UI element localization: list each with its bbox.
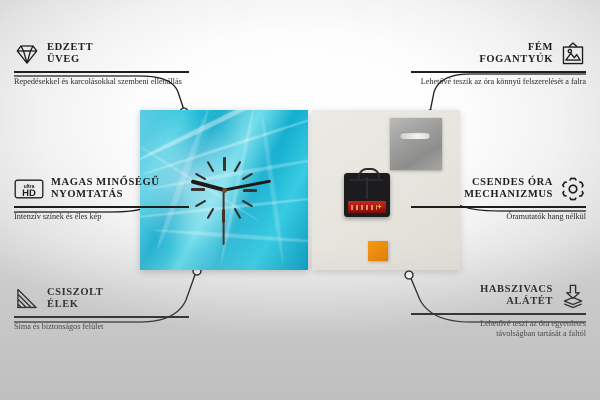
svg-text:HD: HD (22, 188, 36, 199)
callout-header: ultra HD MAGAS MINŐSÉGŰ NYOMTATÁS (14, 176, 189, 202)
divider (14, 316, 189, 318)
infographic-canvas: + EDZETT ÜVEG Repedésekkel és karcolások… (0, 0, 600, 400)
callout-title: EDZETT ÜVEG (47, 42, 93, 67)
ultra-hd-icon: ultra HD (14, 176, 44, 202)
polished-edge-icon (14, 286, 40, 312)
callout-foam-pad: HABSZIVACS ALÁTÉT Lehetővé teszi az óra … (411, 283, 586, 340)
callout-header: HABSZIVACS ALÁTÉT (411, 283, 586, 309)
battery-plus-icon: + (376, 203, 383, 210)
hanger-slot (400, 132, 430, 139)
callout-title: CSISZOLT ÉLEK (47, 287, 103, 312)
callout-title: CSENDES ÓRA MECHANIZMUS (464, 177, 553, 202)
callout-header: EDZETT ÜVEG (14, 41, 189, 67)
callout-title: FÉM FOGANTYÚK (479, 42, 553, 67)
divider (14, 71, 189, 73)
callout-polished-edges: CSISZOLT ÉLEK Sima és biztonságos felüle… (14, 286, 189, 332)
callout-description: Repedésekkel és karcolásokkal szembeni e… (14, 77, 189, 88)
callout-description: Lehetővé teszik az óra könnyű felszerelé… (411, 77, 586, 88)
callout-title: HABSZIVACS ALÁTÉT (480, 284, 553, 309)
callout-high-quality-print: ultra HD MAGAS MINŐSÉGŰ NYOMTATÁS Intenz… (14, 176, 189, 222)
callout-description: Intenzív színek és éles kép (14, 212, 189, 223)
divider (411, 313, 586, 315)
callout-description: Óramutatók hang nélkül (411, 212, 586, 223)
gear-icon (560, 176, 586, 202)
callout-header: CSISZOLT ÉLEK (14, 286, 189, 312)
callout-description: Lehetővé teszi az óra egyenletes távolsá… (411, 319, 586, 340)
callout-header: CSENDES ÓRA MECHANIZMUS (411, 176, 586, 202)
metal-hanger-plate (390, 118, 442, 170)
divider (14, 206, 189, 208)
divider (411, 71, 586, 73)
battery-label (351, 205, 377, 210)
callout-description-line: Lehetővé teszi az óra egyenletes (411, 319, 586, 330)
picture-hanger-icon (560, 41, 586, 67)
clock-center-pin (222, 188, 227, 193)
quartz-mechanism: + (344, 173, 390, 217)
callout-title: MAGAS MINŐSÉGŰ NYOMTATÁS (51, 177, 159, 202)
foam-pad (368, 241, 388, 261)
callout-description: Sima és biztonságos felület (14, 322, 189, 333)
divider (411, 206, 586, 208)
callout-metal-handles: FÉM FOGANTYÚK Lehetővé teszik az óra kön… (411, 41, 586, 87)
clock-second-hand (223, 190, 225, 245)
callout-header: FÉM FOGANTYÚK (411, 41, 586, 67)
callout-description-line: távolságban tartását a faltól (411, 329, 586, 340)
callout-tempered-glass: EDZETT ÜVEG Repedésekkel és karcolásokka… (14, 41, 189, 87)
mechanism-loop (358, 168, 380, 179)
battery: + (348, 201, 386, 213)
mechanism-seam (366, 177, 368, 199)
foam-pad-icon (560, 283, 586, 309)
callout-silent-mechanism: CSENDES ÓRA MECHANIZMUS Óramutatók hang … (411, 176, 586, 222)
diamond-icon (14, 41, 40, 67)
